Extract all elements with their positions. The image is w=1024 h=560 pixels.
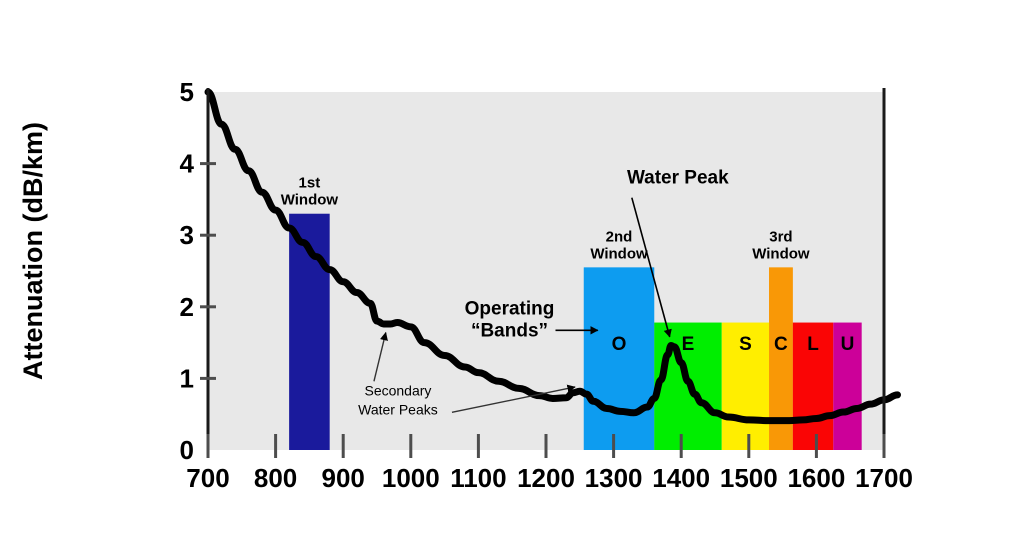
y-tick-label-1: 1 bbox=[180, 363, 194, 393]
x-tick-label-1000: 1000 bbox=[382, 463, 440, 493]
band-letter-c: C bbox=[774, 334, 788, 355]
y-tick-label-0: 0 bbox=[180, 435, 194, 465]
secondary-water-peaks-label-line2: Water Peaks bbox=[358, 401, 438, 417]
y-axis-title: Attenuation (dB/km) bbox=[18, 122, 48, 380]
attenuation-chart-figure: OESCLU 1stWindow2ndWindow3rdWindow 01234… bbox=[0, 0, 1024, 560]
y-tick-label-3: 3 bbox=[180, 220, 194, 250]
band-letter-l: L bbox=[807, 334, 819, 355]
x-tick-label-1700: 1700 bbox=[855, 463, 913, 493]
window-label-2-line2: Window bbox=[590, 245, 648, 262]
x-tick-label-700: 700 bbox=[186, 463, 229, 493]
x-tick-label-1400: 1400 bbox=[652, 463, 710, 493]
operating-bands-label-line1: Operating bbox=[465, 298, 555, 319]
window-label-3-line2: Window bbox=[752, 245, 810, 262]
window-label-1-line2: Window bbox=[281, 192, 339, 209]
window-rect-2 bbox=[584, 267, 654, 450]
secondary-water-peaks-label-line1: Secondary bbox=[364, 382, 431, 398]
y-tick-label-5: 5 bbox=[180, 77, 194, 107]
x-tick-label-1100: 1100 bbox=[450, 463, 506, 493]
x-tick-label-1500: 1500 bbox=[720, 463, 778, 493]
band-letter-u: U bbox=[841, 334, 855, 355]
window-label-1-line1: 1st bbox=[299, 175, 321, 192]
water-peak-label: Water Peak bbox=[627, 168, 729, 189]
band-letter-s: S bbox=[739, 334, 752, 355]
band-letter-e: E bbox=[682, 334, 695, 355]
x-tick-label-800: 800 bbox=[254, 463, 297, 493]
y-tick-label-2: 2 bbox=[180, 292, 194, 322]
window-label-2-line1: 2nd bbox=[606, 228, 633, 245]
chart-svg: OESCLU 1stWindow2ndWindow3rdWindow 01234… bbox=[0, 0, 1024, 560]
x-tick-label-900: 900 bbox=[322, 463, 365, 493]
x-tick-label-1300: 1300 bbox=[585, 463, 643, 493]
window-label-3-line1: 3rd bbox=[769, 228, 792, 245]
y-tick-label-4: 4 bbox=[180, 149, 195, 179]
band-letter-o: O bbox=[612, 334, 627, 355]
x-tick-label-1200: 1200 bbox=[517, 463, 575, 493]
x-tick-label-1600: 1600 bbox=[787, 463, 845, 493]
operating-bands-label-line2: “Bands” bbox=[471, 320, 548, 341]
